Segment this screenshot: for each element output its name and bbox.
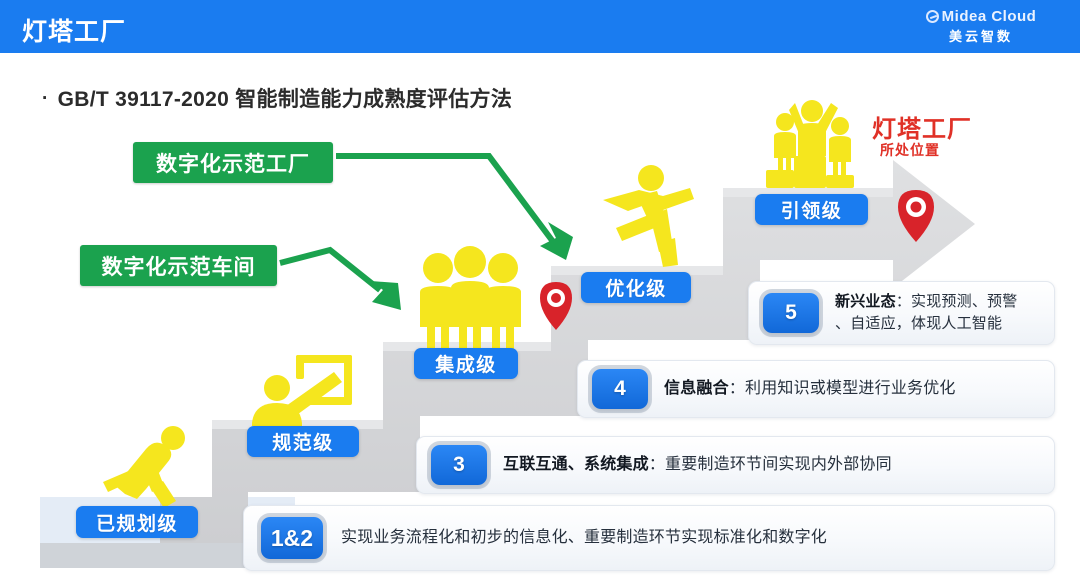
lighthouse-title: 灯塔工厂 [872,109,972,144]
description-bold-5: 新兴业态 [835,293,896,310]
podium-winner-icon [766,100,854,188]
description-row-3[interactable]: 3 互联互通、系统集成：重要制造环节间实现内外部协同 [416,436,1055,494]
level-pill-planned[interactable]: 已规划级 [76,506,198,538]
level-badge-4: 4 [592,369,648,409]
description-plain-12: 实现业务流程化和初步的信息化、重要制造环节实现标准化和数字化 [341,529,827,546]
level-pill-integrated[interactable]: 集成级 [414,348,518,379]
lighthouse-subtitle: 所处位置 [880,140,940,160]
callout-digital-factory[interactable]: 数字化示范工厂 [133,142,333,183]
level-pill-leading[interactable]: 引领级 [755,194,868,225]
green-arrow-workshop [280,250,380,290]
description-row-12[interactable]: 1&2 实现业务流程化和初步的信息化、重要制造环节实现标准化和数字化 [243,505,1055,571]
level-badge-12: 1&2 [261,517,323,559]
slide-canvas: 灯塔工厂 Midea Cloud 美云智数 ·GB/T 39117-2020 智… [0,0,1080,582]
level-badge-3: 3 [431,445,487,485]
green-arrow-factory [336,156,554,243]
description-text-3: 互联互通、系统集成：重要制造环节间实现内外部协同 [503,453,892,476]
crawling-person-icon [103,426,185,508]
running-person-icon [603,165,694,267]
description-bold-3: 互联互通、系统集成 [503,456,649,473]
description-plain-5: ：实现预测、预警 [896,293,1018,310]
person-at-desk-icon [252,355,352,426]
description-row-5[interactable]: 5 新兴业态：实现预测、预警、自适应，体现人工智能 [748,281,1055,345]
description-text-4: 信息融合：利用知识或模型进行业务优化 [664,377,956,400]
description-text-5: 新兴业态：实现预测、预警、自适应，体现人工智能 [835,291,1017,335]
description-plain-3: ：重要制造环节间实现内外部协同 [649,456,892,473]
description-bold-4: 信息融合 [664,380,729,397]
description-row-4[interactable]: 4 信息融合：利用知识或模型进行业务优化 [577,360,1055,418]
description-plain-4: ：利用知识或模型进行业务优化 [729,380,956,397]
level-pill-standard[interactable]: 规范级 [247,426,359,457]
level-pill-optimized[interactable]: 优化级 [581,272,691,303]
level-badge-5: 5 [763,293,819,333]
description-plain-5b: 、自适应，体现人工智能 [835,315,1002,332]
three-people-icon [420,246,521,353]
description-text-12: 实现业务流程化和初步的信息化、重要制造环节实现标准化和数字化 [341,526,827,549]
callout-digital-workshop[interactable]: 数字化示范车间 [80,245,277,286]
